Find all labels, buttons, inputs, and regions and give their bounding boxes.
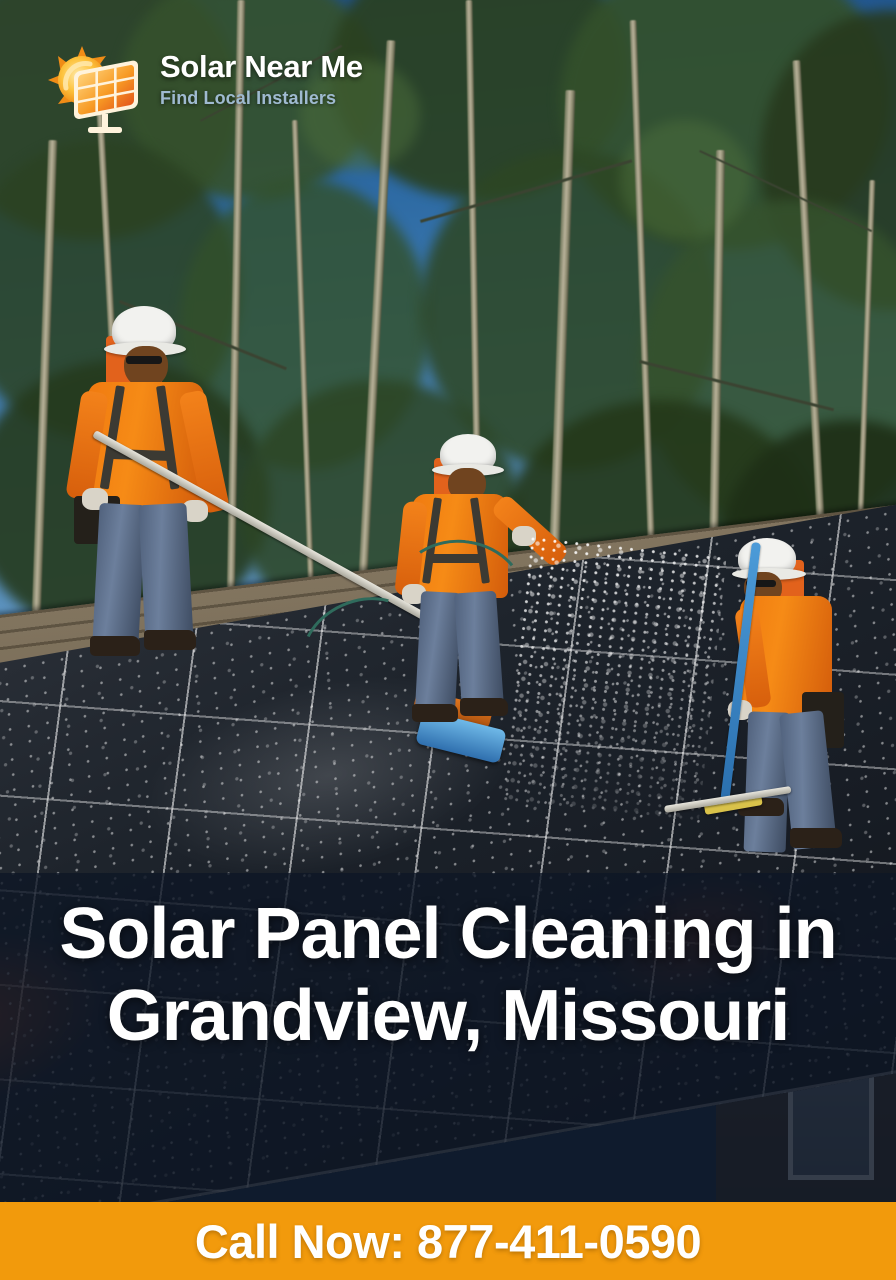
worker-legs bbox=[138, 503, 193, 645]
sun-solar-panel-icon bbox=[44, 42, 148, 138]
brand-tagline: Find Local Installers bbox=[160, 86, 363, 110]
worker-left bbox=[60, 300, 250, 660]
page-title: Solar Panel Cleaning in Grandview, Misso… bbox=[0, 893, 896, 1057]
work-boot bbox=[90, 636, 140, 656]
call-now-label[interactable]: Call Now: 877-411-0590 bbox=[195, 1214, 701, 1269]
brand-text: Solar Near Me Find Local Installers bbox=[160, 48, 363, 110]
brand-logo[interactable]: Solar Near Me Find Local Installers bbox=[44, 42, 464, 138]
work-boot bbox=[412, 704, 458, 722]
safety-glasses bbox=[126, 356, 162, 364]
poster: Solar Near Me Find Local Installers Sola… bbox=[0, 0, 896, 1280]
work-boot bbox=[790, 828, 842, 848]
worker-legs bbox=[92, 503, 145, 647]
water-spray bbox=[500, 534, 727, 823]
work-boot bbox=[144, 630, 196, 650]
brand-title: Solar Near Me bbox=[160, 48, 363, 86]
work-boot bbox=[460, 698, 508, 716]
call-now-bar[interactable]: Call Now: 877-411-0590 bbox=[0, 1202, 896, 1280]
